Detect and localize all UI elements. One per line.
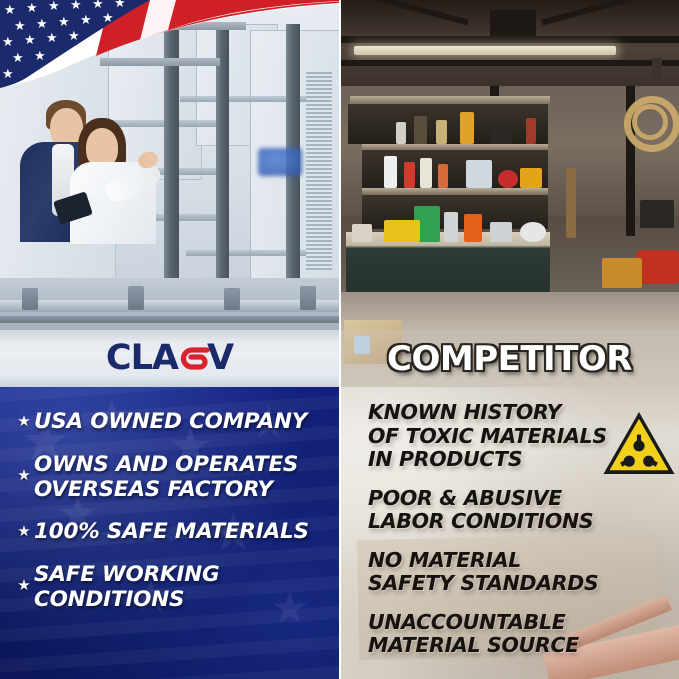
competitor-title: COMPETITOR xyxy=(387,342,632,376)
svg-text:★: ★ xyxy=(14,19,26,34)
star-bullet-icon: ★ xyxy=(14,409,34,435)
panel-divider xyxy=(339,0,341,679)
svg-text:★: ★ xyxy=(80,13,92,28)
benefit-label: SAFE WORKINGCONDITIONS xyxy=(34,562,219,612)
benefit-list: ★ USA OWNED COMPANY ★ OWNS AND OPERATESO… xyxy=(0,387,339,679)
right-panel-competitor: COMPETITOR xyxy=(340,0,679,679)
logo-text-v: V xyxy=(207,341,233,376)
competitor-issues-block: KNOWN HISTORYOF TOXIC MATERIALSIN PRODUC… xyxy=(340,387,679,679)
svg-text:★: ★ xyxy=(46,31,58,46)
svg-text:★: ★ xyxy=(58,15,70,30)
svg-text:★: ★ xyxy=(4,3,16,18)
svg-text:★: ★ xyxy=(24,33,36,48)
svg-text:★: ★ xyxy=(12,51,24,66)
issue-item: UNACCOUNTABLEMATERIAL SOURCE xyxy=(368,611,669,658)
svg-text:★: ★ xyxy=(26,1,38,16)
benefit-label: USA OWNED COMPANY xyxy=(34,409,307,434)
benefit-item: ★ USA OWNED COMPANY xyxy=(14,409,327,435)
svg-text:★: ★ xyxy=(70,0,82,13)
issue-label: POOR & ABUSIVELABOR CONDITIONS xyxy=(368,487,669,534)
svg-text:★: ★ xyxy=(48,0,60,14)
claev-logo: CLA V xyxy=(106,341,233,376)
issue-label: UNACCOUNTABLEMATERIAL SOURCE xyxy=(368,611,669,658)
comparison-infographic: ★★★ ★★★ ★★★ ★★ ★★★ ★ ★★ ★ CLA xyxy=(0,0,679,679)
svg-text:★: ★ xyxy=(2,35,14,50)
issue-label: NO MATERIALSAFETY STANDARDS xyxy=(368,549,669,596)
claev-benefits-block: ★ ★ ★ ★ ★ ★ ★ ★ ★ USA OWNED COMPANY ★ OW… xyxy=(0,387,339,679)
benefit-item: ★ 100% SAFE MATERIALS xyxy=(14,519,327,545)
svg-text:★: ★ xyxy=(36,17,48,32)
issue-item: POOR & ABUSIVELABOR CONDITIONS xyxy=(368,487,669,534)
svg-text:★: ★ xyxy=(2,67,14,82)
competitor-title-bar: COMPETITOR xyxy=(340,330,679,388)
star-bullet-icon: ★ xyxy=(14,452,34,500)
svg-text:★: ★ xyxy=(114,0,126,11)
biohazard-warning-icon xyxy=(601,409,677,477)
benefit-label: 100% SAFE MATERIALS xyxy=(34,519,309,544)
usa-flag-banner: ★★★ ★★★ ★★★ ★★ ★★★ ★ ★★ ★ xyxy=(0,0,339,90)
star-bullet-icon: ★ xyxy=(14,562,34,610)
svg-text:★: ★ xyxy=(68,29,80,44)
issue-item: NO MATERIALSAFETY STANDARDS xyxy=(368,549,669,596)
benefit-label: OWNS AND OPERATESOVERSEAS FACTORY xyxy=(34,452,298,502)
left-panel-claev: ★★★ ★★★ ★★★ ★★ ★★★ ★ ★★ ★ CLA xyxy=(0,0,339,679)
svg-text:★: ★ xyxy=(34,49,46,64)
logo-text-cla: CLA xyxy=(106,341,178,376)
star-bullet-icon: ★ xyxy=(14,519,34,545)
claev-logo-bar: CLA V xyxy=(0,330,339,388)
benefit-item: ★ SAFE WORKINGCONDITIONS xyxy=(14,562,327,612)
benefit-item: ★ OWNS AND OPERATESOVERSEAS FACTORY xyxy=(14,452,327,502)
logo-e-icon xyxy=(176,341,210,375)
